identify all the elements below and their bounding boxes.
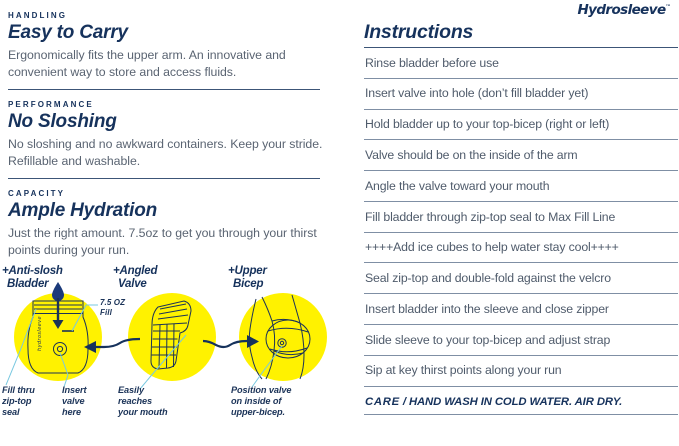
instruction-step: Valve should be on the inside of the arm [364, 139, 678, 170]
feature-body-capacity: Just the right amount. 7.5oz to get you … [8, 225, 337, 258]
caption-1-l2: zip-top [2, 396, 31, 406]
feature-performance: PERFORMANCE No Sloshing No sloshing and … [0, 99, 345, 169]
bladder-side-brandmark: hydrosleeve [37, 316, 43, 351]
care-value: HAND WASH IN COLD WATER. AIR DRY. [409, 396, 622, 408]
divider-1 [8, 89, 320, 90]
caption-3-l1: Easily [118, 385, 144, 395]
feature-title-performance: No Sloshing [8, 111, 337, 133]
diagram-illustration: hydrosleeve [0, 265, 345, 445]
yellow-circle-bicep [239, 293, 327, 381]
instructions-title: Instructions [364, 21, 473, 44]
instruction-step: ++++Add ice cubes to help water stay coo… [364, 232, 678, 263]
care-instructions: CARE / HAND WASH IN COLD WATER. AIR DRY. [364, 386, 678, 414]
instruction-step: Seal zip-top and double-fold against the… [364, 262, 678, 293]
feature-eyebrow-performance: PERFORMANCE [8, 99, 337, 110]
features-column: HANDLING Easy to Carry Ergonomically fit… [0, 0, 345, 446]
instructions-list: Rinse bladder before use Insert valve in… [364, 47, 678, 415]
feature-body-performance: No sloshing and no awkward containers. K… [8, 136, 337, 169]
caption-4-l3: upper-bicep. [231, 407, 285, 417]
caption-4-l2: on inside of [231, 396, 281, 406]
caption-3-l2: reaches [118, 396, 152, 406]
instructions-column: Hydrosleeve™ Instructions Rinse bladder … [362, 0, 679, 446]
care-bottom-divider [364, 414, 678, 415]
caption-position-valve: Position valve on inside of upper-bicep. [231, 385, 291, 419]
caption-1-l1: Fill thru [2, 385, 35, 395]
feature-title-handling: Easy to Carry [8, 22, 337, 44]
feature-body-handling: Ergonomically fits the upper arm. An inn… [8, 47, 337, 80]
fill-line-note: 7.5 OZ Fill [100, 298, 125, 317]
feature-eyebrow-capacity: CAPACITY [8, 188, 337, 199]
care-label: CARE [365, 396, 400, 408]
instruction-step: Insert bladder into the sleeve and close… [364, 293, 678, 324]
caption-2-l1: Insert [62, 385, 86, 395]
product-diagram: +Anti-slosh Bladder +Angled Valve +Upper… [0, 265, 345, 445]
divider-2 [8, 178, 320, 179]
fill-note-l1: 7.5 OZ [100, 298, 125, 307]
instruction-step: Rinse bladder before use [364, 47, 678, 78]
caption-1-l3: seal [2, 407, 19, 417]
caption-fill-thru-ziptop: Fill thru zip-top seal [2, 385, 35, 419]
care-separator: / [400, 396, 409, 408]
instruction-step: Fill bladder through zip-top seal to Max… [364, 201, 678, 232]
caption-2-l2: valve [62, 396, 85, 406]
brand-logo: Hydrosleeve™ [577, 2, 671, 18]
feature-capacity: CAPACITY Ample Hydration Just the right … [0, 188, 345, 258]
fill-note-l2: Fill [100, 308, 112, 317]
caption-easily-reaches-mouth: Easily reaches your mouth [118, 385, 168, 419]
caption-4-l1: Position valve [231, 385, 291, 395]
instruction-step: Slide sleeve to your top-bicep and adjus… [364, 324, 678, 355]
product-instruction-card: HANDLING Easy to Carry Ergonomically fit… [0, 0, 679, 446]
trademark-symbol: ™ [666, 5, 672, 11]
caption-insert-valve-here: Insert valve here [62, 385, 86, 419]
feature-handling: HANDLING Easy to Carry Ergonomically fit… [0, 10, 345, 80]
instruction-step: Sip at key thirst points along your run [364, 355, 678, 386]
brand-name: Hydrosleeve [577, 2, 665, 18]
feature-eyebrow-handling: HANDLING [8, 10, 337, 21]
instruction-step: Angle the valve toward your mouth [364, 170, 678, 201]
instruction-step: Insert valve into hole (don’t fill bladd… [364, 78, 678, 109]
feature-title-capacity: Ample Hydration [8, 200, 337, 222]
caption-3-l3: your mouth [118, 407, 168, 417]
caption-2-l3: here [62, 407, 81, 417]
instruction-step: Hold bladder up to your top-bicep (right… [364, 109, 678, 140]
